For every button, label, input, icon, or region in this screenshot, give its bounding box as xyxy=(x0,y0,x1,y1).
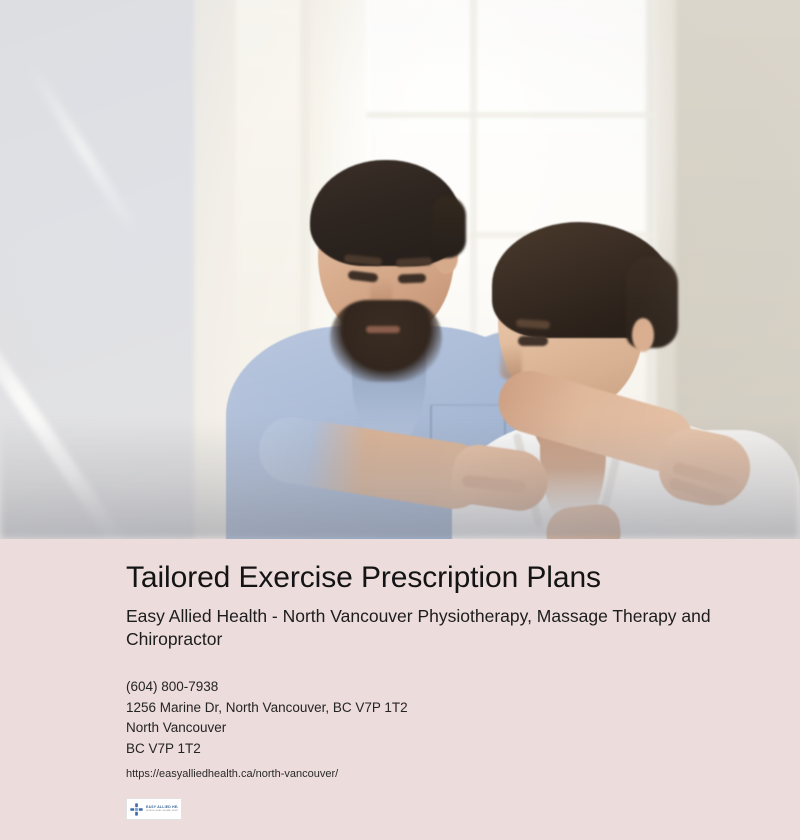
therapist-beard xyxy=(330,300,442,382)
brand-logo-badge: EASY ALLIED HEALTH MOBILE HEALTHCARE SER… xyxy=(126,798,182,820)
window-mullion-horizontal-1 xyxy=(366,112,654,118)
hero-photo xyxy=(0,0,800,539)
window-strip-edge xyxy=(300,0,310,360)
window-side-strip xyxy=(236,0,302,340)
contact-address: 1256 Marine Dr, North Vancouver, BC V7P … xyxy=(126,698,800,719)
therapist-mouth xyxy=(366,326,400,333)
contact-postal-code: BC V7P 1T2 xyxy=(126,739,800,760)
window-mullion-vertical-2 xyxy=(646,0,656,440)
patient-eye xyxy=(518,336,548,346)
contact-city: North Vancouver xyxy=(126,718,800,739)
page-title: Tailored Exercise Prescription Plans xyxy=(126,539,800,596)
page-root: Tailored Exercise Prescription Plans Eas… xyxy=(0,0,800,840)
contact-phone: (604) 800-7938 xyxy=(126,677,800,698)
floor-shadow xyxy=(0,419,800,539)
business-subtitle: Easy Allied Health - North Vancouver Phy… xyxy=(126,596,800,651)
therapist-sideburn xyxy=(432,196,466,258)
contact-details: (604) 800-7938 1256 Marine Dr, North Van… xyxy=(126,651,800,759)
patient-ear xyxy=(632,318,654,352)
website-url[interactable]: https://easyalliedhealth.ca/north-vancou… xyxy=(126,759,800,782)
brand-tagline: MOBILE HEALTHCARE SERVICES xyxy=(146,810,178,813)
cross-pinwheel-icon xyxy=(130,803,143,816)
info-panel: Tailored Exercise Prescription Plans Eas… xyxy=(0,539,800,840)
brand-logo-text: EASY ALLIED HEALTH MOBILE HEALTHCARE SER… xyxy=(146,805,178,812)
therapist-eye-right xyxy=(398,274,426,284)
